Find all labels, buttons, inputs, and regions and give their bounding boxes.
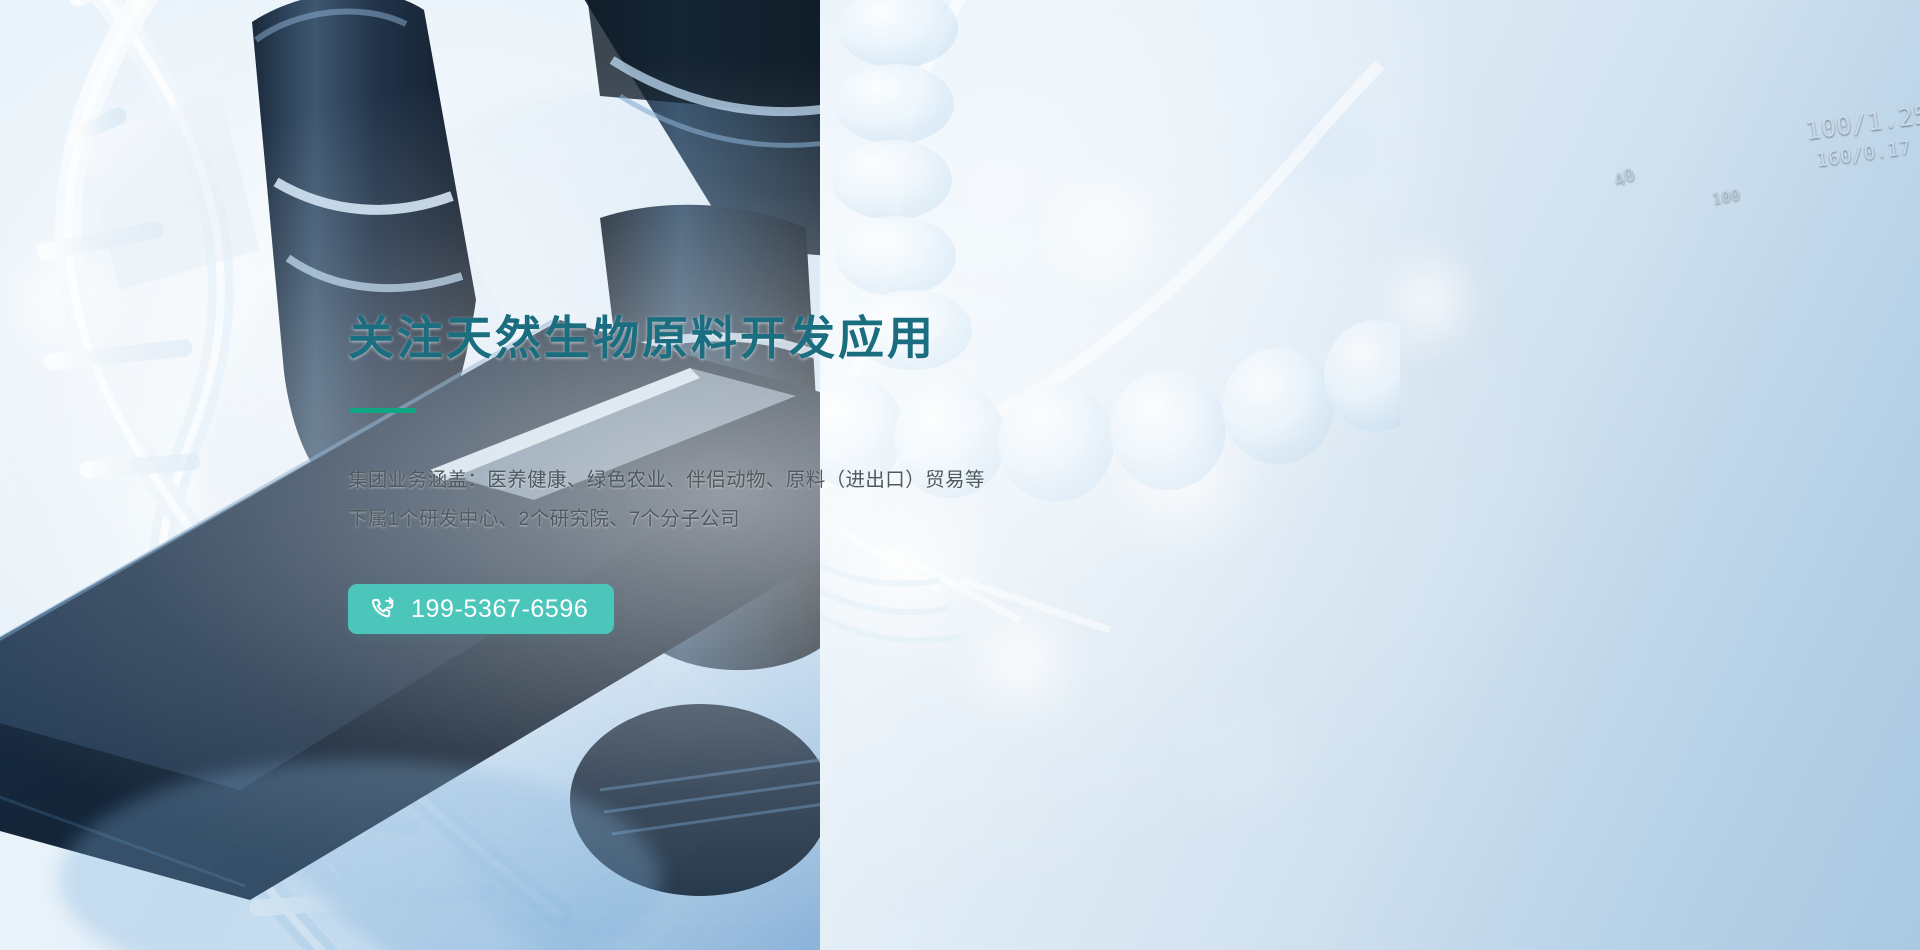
phone-forward-icon	[370, 596, 397, 623]
microscope-marking-100x: 100	[1711, 186, 1742, 209]
hero-description-line-2: 下属1个研发中心、2个研究院、7个分子公司	[348, 500, 1108, 540]
page-title: 关注天然生物原料开发应用	[348, 310, 1108, 368]
microscope-marking-tube: 160/0.17	[1815, 136, 1913, 171]
accent-divider	[350, 408, 416, 413]
hero-description-line-1: 集团业务涵盖：医养健康、绿色农业、伴侣动物、原料（进出口）贸易等	[348, 461, 1108, 501]
phone-number-label: 199-5367-6596	[411, 597, 588, 622]
hero-content: 关注天然生物原料开发应用 集团业务涵盖：医养健康、绿色农业、伴侣动物、原料（进出…	[348, 310, 1108, 634]
hero-banner: 100/1.25 160/0.17 40 100 关注天然生物原料开发应用 集团…	[0, 0, 1920, 950]
call-phone-button[interactable]: 199-5367-6596	[348, 584, 614, 634]
microscope-marking-40x: 40	[1611, 164, 1639, 191]
hero-description: 集团业务涵盖：医养健康、绿色农业、伴侣动物、原料（进出口）贸易等 下属1个研发中…	[348, 461, 1108, 541]
microscope-marking-aperture: 100/1.25	[1804, 99, 1920, 145]
